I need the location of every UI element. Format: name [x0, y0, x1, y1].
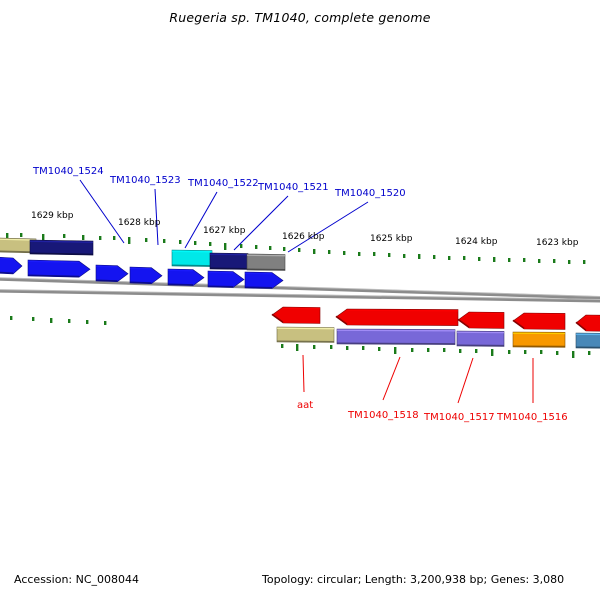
- codon-tick: [448, 256, 450, 260]
- red-arrow-5[interactable]: [576, 315, 600, 331]
- codon-tick: [128, 237, 130, 244]
- codon-tick: [388, 253, 390, 257]
- leader-line: [288, 202, 368, 252]
- codon-tick: [6, 233, 8, 238]
- codon-tick: [269, 246, 271, 250]
- codon-tick: [583, 260, 585, 264]
- gray-box-bevel: [247, 255, 285, 256]
- codon-tick: [433, 255, 435, 259]
- codon-tick: [328, 250, 330, 254]
- blue-arrow-4-bevel: [130, 268, 151, 269]
- codon-tick: [508, 350, 510, 354]
- navy-box-2-bevel: [210, 254, 248, 255]
- leader-line: [80, 180, 124, 243]
- codon-tick: [524, 350, 526, 354]
- backbone-group: [0, 278, 600, 301]
- codon-tick: [283, 247, 285, 251]
- codon-tick: [378, 347, 380, 351]
- accession-text: Accession: NC_008044: [14, 573, 139, 586]
- codon-tick: [523, 258, 525, 262]
- topology-text: Topology: circular; Length: 3,200,938 bp…: [262, 573, 564, 586]
- gene-label-tm1040_1523[interactable]: TM1040_1523: [110, 175, 181, 186]
- gene-label-tm1040_1520[interactable]: TM1040_1520: [335, 188, 406, 199]
- blue-arrow-3[interactable]: [96, 265, 128, 282]
- blue-arrow-4[interactable]: [130, 267, 162, 284]
- codon-tick: [394, 347, 396, 354]
- codon-tick: [86, 320, 88, 324]
- codon-tick: [588, 351, 590, 355]
- blue-arrow-5-shadow: [168, 284, 193, 285]
- ruler-tick-label: 1623 kbp: [536, 238, 578, 248]
- gene-label-tm1040_1524[interactable]: TM1040_1524: [33, 166, 104, 177]
- codon-tick: [443, 348, 445, 352]
- codon-tick: [68, 319, 70, 323]
- codon-tick: [373, 252, 375, 256]
- khaki-box-2[interactable]: [277, 327, 334, 343]
- codon-tick: [313, 249, 315, 254]
- codon-tick: [82, 235, 84, 240]
- codon-tick: [553, 259, 555, 263]
- leader-line: [458, 358, 473, 403]
- codon-tick: [240, 244, 242, 248]
- blue-arrow-3-shadow: [96, 280, 117, 281]
- codon-tick: [298, 248, 300, 252]
- blue-arrow-7-shadow: [245, 287, 272, 288]
- bottom-leader-lines: [303, 355, 533, 403]
- codon-tick: [568, 260, 570, 264]
- red-arrow-2[interactable]: [336, 309, 458, 326]
- codon-tick: [411, 348, 413, 352]
- codon-tick: [478, 257, 480, 261]
- codon-tick: [20, 233, 22, 237]
- gene-label-aat[interactable]: aat: [297, 400, 313, 411]
- codon-tick: [491, 349, 493, 356]
- genome-viewer-page: Ruegeria sp. TM1040, complete genome 162…: [0, 0, 600, 600]
- purple-box-1-bevel: [337, 330, 455, 331]
- blue-arrow-4-shadow: [130, 282, 151, 283]
- blue-arrow-6-shadow: [208, 286, 233, 287]
- codon-tick: [540, 350, 542, 354]
- gene-label-tm1040_1521[interactable]: TM1040_1521: [258, 182, 329, 193]
- red-arrow-1-bevel: [283, 308, 320, 309]
- red-arrow-1[interactable]: [272, 307, 320, 324]
- codon-tick: [556, 351, 558, 355]
- codon-tick: [493, 257, 495, 262]
- red-arrow-4[interactable]: [513, 313, 565, 329]
- gene-label-tm1040_1516[interactable]: TM1040_1516: [497, 412, 568, 423]
- codon-tick: [63, 234, 65, 238]
- codon-tick: [418, 254, 420, 259]
- codon-tick: [358, 252, 360, 256]
- gene-label-tm1040_1517[interactable]: TM1040_1517: [424, 412, 495, 423]
- ruler-tick-label: 1627 kbp: [203, 226, 245, 236]
- lower-features-row-b: [277, 327, 600, 348]
- codon-tick: [538, 259, 540, 263]
- codon-tick: [10, 316, 12, 320]
- khaki-box-2-bevel: [277, 328, 334, 329]
- navy-box-2-shadow: [210, 268, 248, 269]
- ruler-tick-label: 1624 kbp: [455, 237, 497, 247]
- steel-box[interactable]: [576, 333, 600, 348]
- ruler-tick-label: 1629 kbp: [31, 211, 73, 221]
- purple-box-1-shadow: [337, 343, 455, 344]
- codon-tick: [427, 348, 429, 352]
- codon-tick: [209, 242, 211, 246]
- codon-tick: [343, 251, 345, 255]
- codon-tick: [572, 351, 574, 358]
- codon-tick: [313, 345, 315, 349]
- codon-tick: [330, 345, 332, 349]
- gray-box-shadow: [247, 269, 285, 270]
- khaki-box-2-shadow: [277, 341, 334, 342]
- blue-arrow-6-bevel: [208, 272, 233, 273]
- red-arrow-3[interactable]: [458, 312, 504, 328]
- codon-tick: [104, 321, 106, 325]
- codon-tick: [281, 344, 283, 348]
- purple-box-2[interactable]: [457, 331, 504, 346]
- leader-line: [155, 189, 158, 245]
- cyan-box-bevel: [172, 251, 212, 252]
- ruler-tick-label: 1628 kbp: [118, 218, 160, 228]
- codon-tick: [163, 239, 165, 243]
- blue-arrow-3-bevel: [96, 266, 117, 267]
- gray-box[interactable]: [247, 254, 285, 271]
- codon-tick: [475, 349, 477, 353]
- red-arrow-2-bevel: [347, 310, 458, 311]
- codon-tick: [32, 317, 34, 321]
- codon-tick: [463, 256, 465, 260]
- codon-tick: [145, 238, 147, 242]
- codon-tick: [113, 236, 115, 240]
- leader-line: [383, 357, 400, 400]
- codon-tick: [296, 344, 298, 351]
- codon-tick: [224, 243, 226, 250]
- ruler-tick-label: 1626 kbp: [282, 232, 324, 242]
- gene-label-tm1040_1518[interactable]: TM1040_1518: [348, 410, 419, 421]
- gene-label-tm1040_1522[interactable]: TM1040_1522: [188, 178, 259, 189]
- cyan-box-shadow: [172, 265, 212, 266]
- blue-arrow-7-bevel: [245, 273, 272, 274]
- codon-tick: [508, 258, 510, 262]
- codon-tick: [459, 349, 461, 353]
- genome-map-canvas: [0, 0, 600, 600]
- orange-box[interactable]: [513, 332, 565, 347]
- codon-tick: [403, 254, 405, 258]
- codon-tick: [346, 346, 348, 350]
- codon-tick: [194, 241, 196, 245]
- codon-tick: [50, 318, 52, 323]
- codon-tick: [362, 346, 364, 350]
- codon-tick: [179, 240, 181, 244]
- leader-line: [185, 192, 217, 248]
- blue-arrow-5-bevel: [168, 270, 193, 271]
- cyan-box[interactable]: [172, 250, 212, 267]
- leader-line: [234, 196, 288, 250]
- blue-arrow-5[interactable]: [168, 269, 204, 286]
- codon-tick: [99, 236, 101, 240]
- ruler-tick-label: 1625 kbp: [370, 234, 412, 244]
- leader-line: [303, 355, 304, 392]
- navy-box-2[interactable]: [210, 253, 248, 270]
- codon-tick: [255, 245, 257, 249]
- blue-arrow-2[interactable]: [28, 260, 90, 277]
